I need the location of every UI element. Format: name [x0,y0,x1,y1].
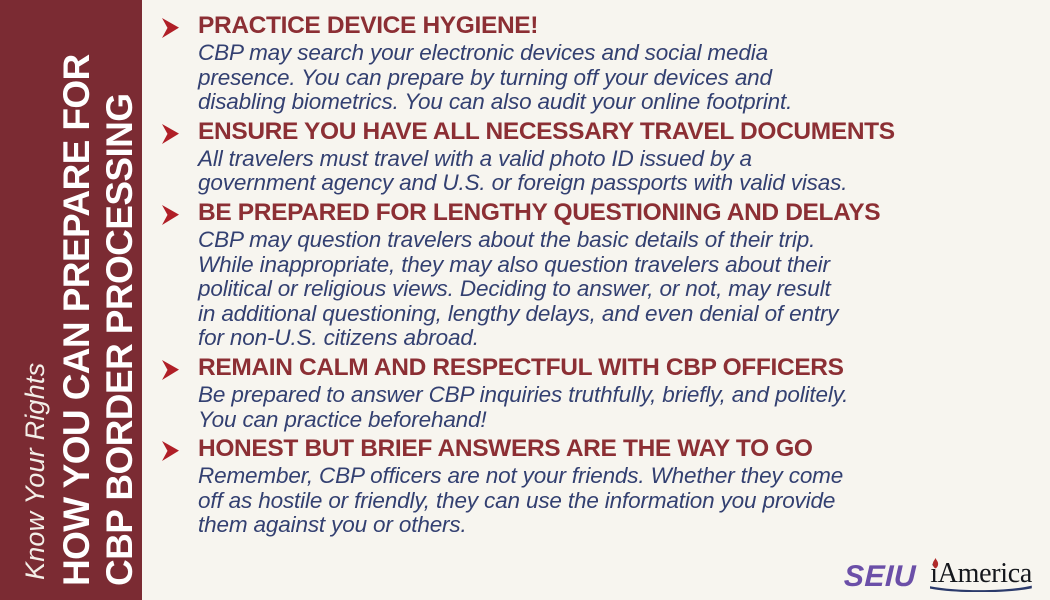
flame-icon [931,558,940,570]
item-heading: BE PREPARED FOR LENGTHY QUESTIONING AND … [198,198,1036,227]
item-body-line: Be prepared to answer CBP inquiries trut… [198,383,1036,408]
item-body-line: CBP may question travelers about the bas… [198,228,1036,253]
chevron-arrow-icon [158,438,184,464]
iamerica-wordmark: iAmerica [930,558,1032,589]
item-body-line: in additional questioning, lengthy delay… [198,302,1036,327]
item-body: All travelers must travel with a valid p… [198,147,1036,196]
item-heading: PRACTICE DEVICE HYGIENE! [198,11,1036,40]
item-body-line: Remember, CBP officers are not your frie… [198,464,1036,489]
chevron-arrow-icon [158,202,184,228]
item-body-line: presence. You can prepare by turning off… [198,66,1036,91]
sidebar-title-line-2: CBP BORDER PROCESSING [99,6,141,586]
iamerica-logo: iAmerica [930,560,1032,592]
list-item: BE PREPARED FOR LENGTHY QUESTIONING AND … [152,198,1036,351]
item-body: Remember, CBP officers are not your frie… [198,464,1036,538]
item-heading: ENSURE YOU HAVE ALL NECESSARY TRAVEL DOC… [198,117,1036,146]
item-body-line: You can practice beforehand! [198,408,1036,433]
item-body-line: political or religious views. Deciding t… [198,277,1036,302]
seiu-logo: SEIU [844,562,917,592]
chevron-arrow-icon [158,121,184,147]
item-heading: REMAIN CALM AND RESPECTFUL WITH CBP OFFI… [198,353,1036,382]
item-body: CBP may search your electronic devices a… [198,41,1036,115]
item-body-line: While inappropriate, they may also quest… [198,253,1036,278]
chevron-arrow-icon [158,357,184,383]
list-item: REMAIN CALM AND RESPECTFUL WITH CBP OFFI… [152,353,1036,432]
item-body-line: off as hostile or friendly, they can use… [198,489,1036,514]
item-body-line: All travelers must travel with a valid p… [198,147,1036,172]
item-body-line: them against you or others. [198,513,1036,538]
item-body-line: government agency and U.S. or foreign pa… [198,171,1036,196]
logo-row: SEIU iAmerica [844,560,1032,592]
list-item: HONEST BUT BRIEF ANSWERS ARE THE WAY TO … [152,434,1036,538]
tips-list: PRACTICE DEVICE HYGIENE! CBP may search … [142,0,1050,600]
sidebar-title-line-1: HOW YOU CAN PREPARE FOR [56,6,98,586]
item-body: CBP may question travelers about the bas… [198,228,1036,351]
item-body-line: for non-U.S. citizens abroad. [198,326,1036,351]
list-item: PRACTICE DEVICE HYGIENE! CBP may search … [152,11,1036,115]
sidebar-kicker: Know Your Rights [18,20,52,580]
sidebar-banner: Know Your Rights HOW YOU CAN PREPARE FOR… [0,0,142,600]
item-heading: HONEST BUT BRIEF ANSWERS ARE THE WAY TO … [198,434,1036,463]
item-body: Be prepared to answer CBP inquiries trut… [198,383,1036,432]
infographic-poster: Know Your Rights HOW YOU CAN PREPARE FOR… [0,0,1050,600]
list-item: ENSURE YOU HAVE ALL NECESSARY TRAVEL DOC… [152,117,1036,196]
chevron-arrow-icon [158,15,184,41]
item-body-line: CBP may search your electronic devices a… [198,41,1036,66]
item-body-line: disabling biometrics. You can also audit… [198,90,1036,115]
